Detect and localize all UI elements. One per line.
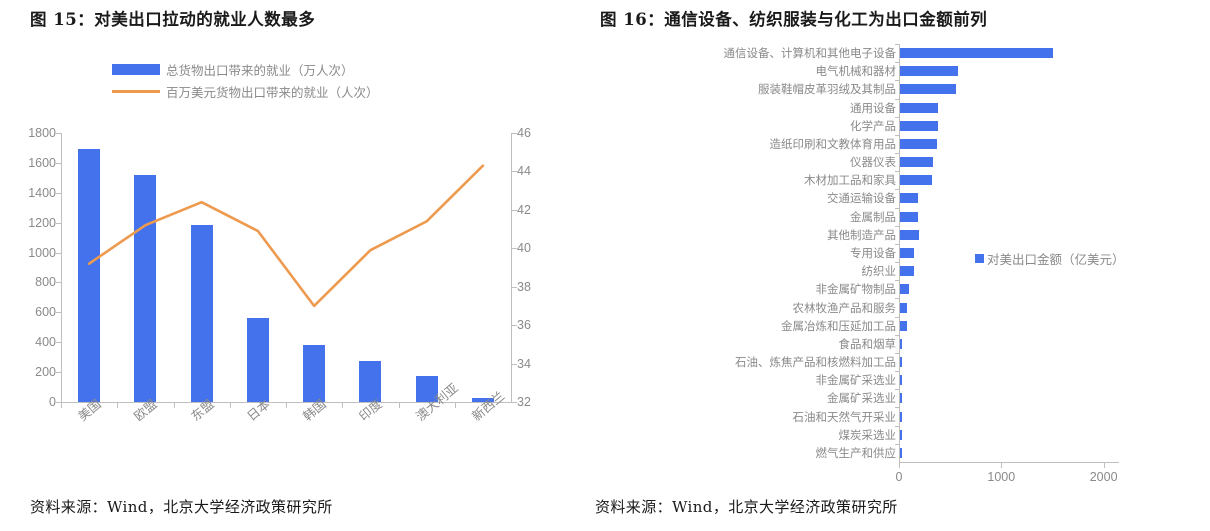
bar[interactable] (900, 284, 909, 294)
figure-15-panel: 图 15：对美出口拉动的就业人数最多 总货物出口带来的就业（万人次） 百万美元货… (0, 0, 605, 531)
figure-15-plot-area: 0200400600800100012001400160018003234363… (61, 133, 511, 402)
bar[interactable] (900, 121, 938, 131)
secondary-y-axis-tick-label: 44 (517, 164, 557, 178)
x-axis-tick-mark (230, 403, 231, 408)
secondary-y-axis-tick-label: 34 (517, 357, 557, 371)
x-axis-tick-mark (174, 403, 175, 408)
legend-line-swatch-icon (112, 90, 160, 93)
y-axis-tick-label: 1000 (10, 246, 56, 260)
category-label: 石油和天然气开采业 (793, 409, 897, 425)
secondary-y-axis-tick-label: 38 (517, 280, 557, 294)
figure-16-source: 资料来源：Wind，北京大学经济政策研究所 (595, 496, 898, 517)
line-series (61, 133, 511, 402)
bar[interactable] (900, 66, 958, 76)
category-label: 金属冶炼和压延加工品 (781, 318, 896, 334)
bar[interactable] (900, 375, 902, 385)
x-axis-tick-mark (342, 403, 343, 408)
x-axis-tick-label: 0 (896, 470, 903, 484)
x-axis-tick-mark (399, 403, 400, 408)
category-label: 石油、炼焦产品和核燃料加工品 (735, 354, 896, 370)
secondary-y-axis-tick-label: 42 (517, 203, 557, 217)
bar[interactable] (900, 412, 902, 422)
figure-15-title: 图 15：对美出口拉动的就业人数最多 (30, 6, 635, 30)
bar[interactable] (900, 48, 1053, 58)
y-axis-tick-label: 400 (10, 335, 56, 349)
category-label: 煤炭采选业 (839, 427, 897, 443)
category-label: 食品和烟草 (839, 336, 897, 352)
secondary-y-axis-tick-label: 40 (517, 241, 557, 255)
bar[interactable] (900, 212, 918, 222)
bar[interactable] (900, 248, 914, 258)
y-axis-tick-label: 0 (10, 395, 56, 409)
bar[interactable] (900, 430, 902, 440)
category-label: 其他制造产品 (827, 227, 896, 243)
legend-item-label: 总货物出口带来的就业（万人次） (166, 60, 354, 79)
bar[interactable] (900, 448, 902, 458)
x-axis-tick-mark (1001, 463, 1002, 468)
x-axis-tick-label: 2000 (1090, 470, 1118, 484)
bar[interactable] (900, 393, 902, 403)
x-axis-tick-mark (286, 403, 287, 408)
category-label: 专用设备 (850, 245, 896, 261)
x-axis-tick-mark (117, 403, 118, 408)
bar[interactable] (900, 139, 937, 149)
category-label: 纺织业 (862, 263, 897, 279)
category-label: 金属矿采选业 (827, 390, 896, 406)
bar[interactable] (900, 84, 956, 94)
figure-15-source: 资料来源：Wind，北京大学经济政策研究所 (30, 496, 333, 517)
y-axis-right-line (511, 133, 512, 402)
bar[interactable] (900, 175, 932, 185)
bar[interactable] (900, 230, 919, 240)
bar[interactable] (900, 357, 902, 367)
category-label: 造纸印刷和文教体育用品 (770, 136, 897, 152)
legend-item-label: 对美出口金额（亿美元） (987, 249, 1125, 268)
x-axis-tick-mark (455, 403, 456, 408)
legend-item-line: 百万美元货物出口带来的就业（人次） (112, 80, 379, 102)
legend-bar-swatch-icon (112, 64, 160, 75)
category-label: 非金属矿采选业 (816, 372, 897, 388)
figure-16-legend: 对美出口金额（亿美元） (975, 249, 1125, 268)
category-label: 交通运输设备 (827, 190, 896, 206)
category-label: 服装鞋帽皮革羽绒及其制品 (758, 81, 896, 97)
x-axis-tick-mark (1104, 463, 1105, 468)
bar[interactable] (900, 339, 902, 349)
category-label: 仪器仪表 (850, 154, 896, 170)
y-axis-tick-label: 1400 (10, 186, 56, 200)
x-axis-tick-mark (899, 463, 900, 468)
figure-16-title: 图 16：通信设备、纺织服装与化工为出口金额前列 (600, 6, 1210, 30)
y-axis-tick-label: 200 (10, 365, 56, 379)
legend-item-label: 百万美元货物出口带来的就业（人次） (166, 82, 379, 101)
bar[interactable] (900, 321, 907, 331)
y-axis-tick-label: 1800 (10, 126, 56, 140)
x-axis-line (899, 462, 1119, 463)
bar[interactable] (900, 266, 914, 276)
line-path (89, 166, 483, 306)
bar[interactable] (900, 103, 938, 113)
y-axis-tick-label: 1600 (10, 156, 56, 170)
secondary-y-axis-tick-label: 36 (517, 318, 557, 332)
y-axis-tick-label: 600 (10, 305, 56, 319)
x-axis-tick-label: 1000 (987, 470, 1015, 484)
category-label: 非金属矿物制品 (816, 281, 897, 297)
category-label: 金属制品 (850, 209, 896, 225)
legend-bar-swatch-icon (975, 254, 984, 263)
y-axis-tick-label: 800 (10, 275, 56, 289)
secondary-y-axis-tick-label: 46 (517, 126, 557, 140)
bar[interactable] (900, 193, 918, 203)
category-label: 燃气生产和供应 (816, 445, 897, 461)
legend-item-bar: 总货物出口带来的就业（万人次） (112, 58, 379, 80)
category-label: 电气机械和器材 (816, 63, 897, 79)
secondary-y-axis-tick-label: 32 (517, 395, 557, 409)
x-axis-tick-mark (61, 403, 62, 408)
category-label: 通信设备、计算机和其他电子设备 (724, 45, 897, 61)
figure-15-legend: 总货物出口带来的就业（万人次） 百万美元货物出口带来的就业（人次） (112, 58, 379, 102)
category-label: 通用设备 (850, 100, 896, 116)
y-axis-tick-label: 1200 (10, 216, 56, 230)
category-label: 木材加工品和家具 (804, 172, 896, 188)
bar[interactable] (900, 303, 907, 313)
category-label: 农林牧渔产品和服务 (793, 300, 897, 316)
category-label: 化学产品 (850, 118, 896, 134)
bar[interactable] (900, 157, 933, 167)
